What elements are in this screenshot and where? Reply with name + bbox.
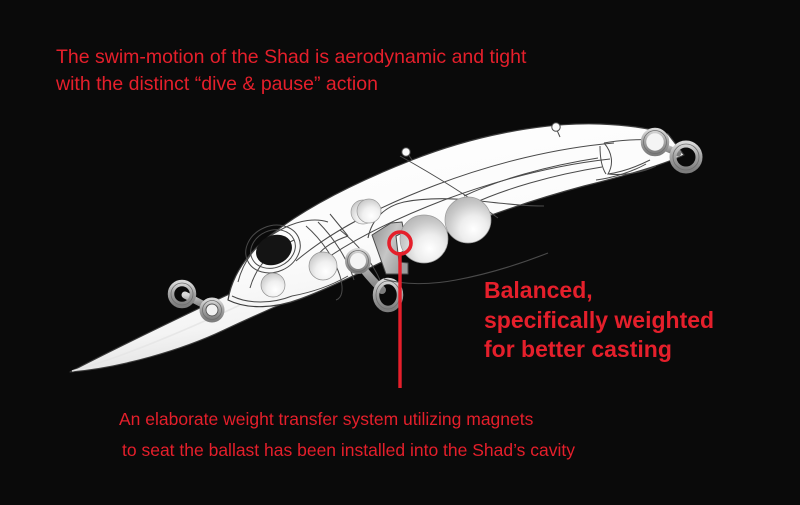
caption-top-line-1: The swim-motion of the Shad is aerodynam… [56,44,526,71]
caption-right-line-2: specifically weighted [484,306,714,336]
ballast-ball-2 [445,197,491,243]
caption-bottom-line-2: to seat the ballast has been installed i… [122,435,575,466]
caption-top-line-2: with the distinct “dive & pause” action [56,71,526,98]
caption-bottom: An elaborate weight transfer system util… [119,404,575,466]
ballast-ball-3 [357,199,381,223]
caption-top: The swim-motion of the Shad is aerodynam… [56,44,526,98]
caption-right-line-1: Balanced, [484,276,714,306]
caption-bottom-line-1: An elaborate weight transfer system util… [119,404,575,435]
caption-right-line-3: for better casting [484,335,714,365]
ballast-ball-1 [400,215,448,263]
infographic-canvas: The swim-motion of the Shad is aerodynam… [0,0,800,505]
caption-right: Balanced, specifically weighted for bett… [484,276,714,365]
